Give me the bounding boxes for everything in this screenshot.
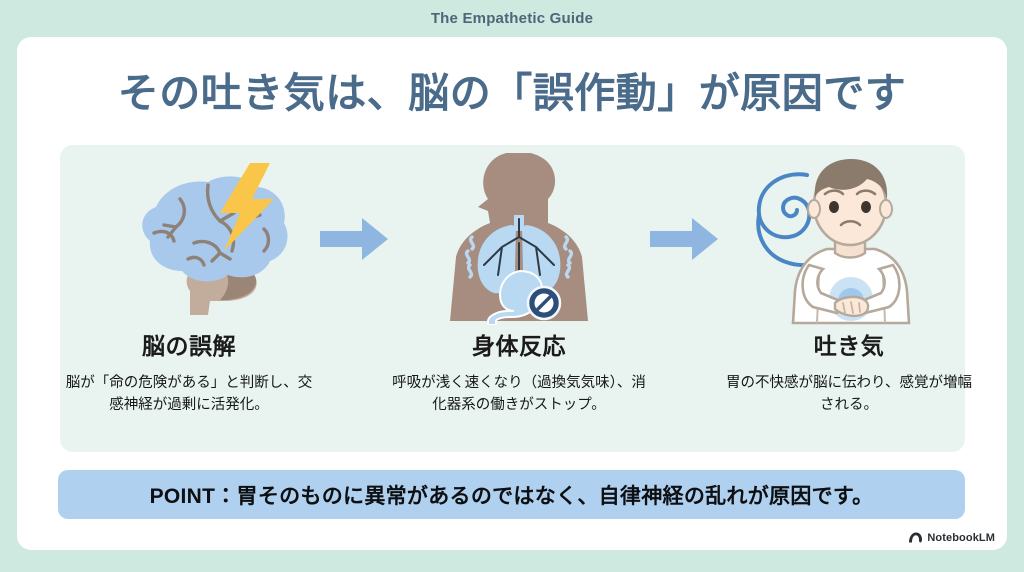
notebooklm-watermark: NotebookLM: [908, 531, 995, 544]
flow-arrow-1: [318, 145, 390, 325]
person-holding-stomach-illustration: [720, 145, 978, 325]
brain-lightning-illustration: [60, 145, 318, 325]
notebooklm-watermark-label: NotebookLM: [927, 532, 995, 544]
page-title: その吐き気は、脳の「誤作動」が原因です: [17, 59, 1007, 119]
flow-step-description: 胃の不快感が脳に伝わり、感覚が増幅される。: [720, 372, 978, 417]
flow-step-brain-misinterpretation: 脳の誤解 脳が「命の危険がある」と判断し、交感神経が過剰に活発化。: [60, 145, 318, 417]
slide-card: その吐き気は、脳の「誤作動」が原因です: [17, 37, 1007, 550]
flow-step-nausea: 吐き気 胃の不快感が脳に伝わり、感覚が増幅される。: [720, 145, 978, 417]
flow-step-description: 脳が「命の危険がある」と判断し、交感神経が過剰に活発化。: [60, 372, 318, 417]
flow-row: 脳の誤解 脳が「命の危険がある」と判断し、交感神経が過剰に活発化。: [60, 145, 965, 452]
point-callout-bar: POINT：胃そのものに異常があるのではなく、自律神経の乱れが原因です。: [58, 470, 965, 519]
notebooklm-spark-icon: [908, 531, 923, 544]
flow-arrow-2: [648, 145, 720, 325]
arrow-right-icon: [648, 215, 720, 263]
header-band: The Empathetic Guide: [0, 0, 1024, 37]
header-title: The Empathetic Guide: [431, 10, 593, 27]
arrow-right-icon: [318, 215, 390, 263]
flow-step-heading: 吐き気: [814, 327, 885, 361]
torso-lungs-stomach-illustration: [390, 145, 648, 325]
flow-step-body-reaction: 身体反応 呼吸が浅く速くなり（過換気気味）、消化器系の働きがストップ。: [390, 145, 648, 417]
flow-panel: 脳の誤解 脳が「命の危険がある」と判断し、交感神経が過剰に活発化。: [60, 145, 965, 452]
flow-step-description: 呼吸が浅く速くなり（過換気気味）、消化器系の働きがストップ。: [390, 372, 648, 417]
flow-step-heading: 身体反応: [472, 327, 566, 361]
point-callout-text: POINT：胃そのものに異常があるのではなく、自律神経の乱れが原因です。: [150, 480, 874, 510]
flow-step-heading: 脳の誤解: [142, 327, 236, 361]
